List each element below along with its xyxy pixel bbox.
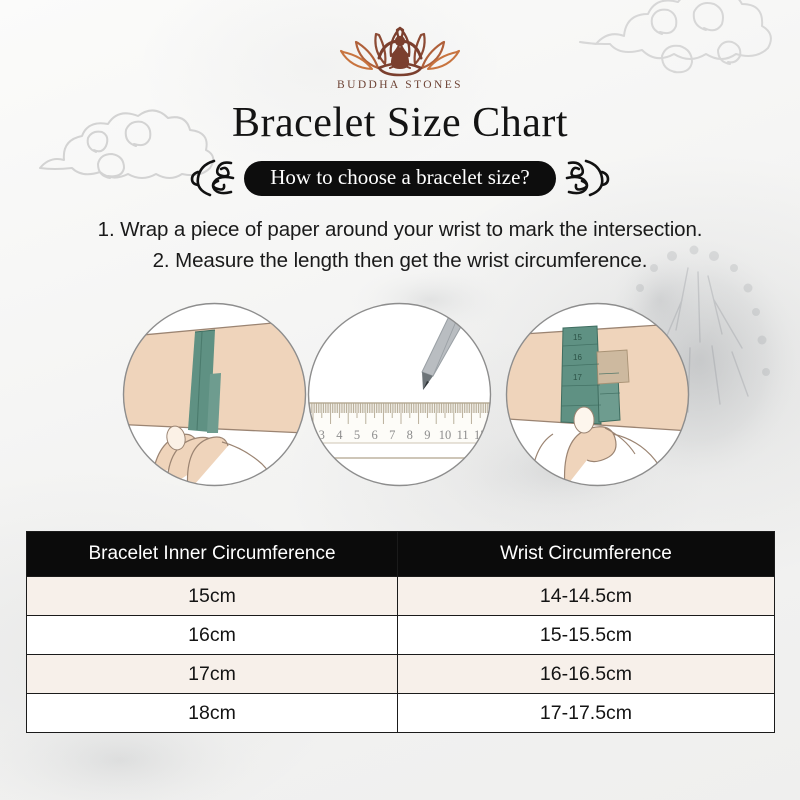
how-to-banner: How to choose a bracelet size?: [0, 158, 800, 198]
ruler-tick-label: 9: [424, 428, 430, 442]
illustration-step-1-wrap-paper: [122, 302, 307, 487]
ruler-tick-label: 4: [336, 428, 343, 442]
ruler-tick-label: 3: [319, 428, 325, 442]
instruction-step-1: 1. Wrap a piece of paper around your wri…: [0, 214, 800, 245]
brand-name: BUDDHA STONES: [337, 79, 463, 91]
cell-bracelet-circumference: 15cm: [27, 577, 398, 616]
cell-bracelet-circumference: 17cm: [27, 655, 398, 694]
illustration-row: 3456789101112: [0, 302, 800, 498]
tape-mark-label: 15: [573, 333, 582, 342]
tape-mark-label: 16: [573, 353, 582, 362]
ornament-flourish-right-icon: [565, 158, 611, 198]
cell-bracelet-circumference: 18cm: [27, 694, 398, 733]
table-body: 15cm 14-14.5cm 16cm 15-15.5cm 17cm 16-16…: [27, 577, 775, 733]
size-chart-page: BUDDHA STONES Bracelet Size Chart How to…: [0, 0, 800, 800]
ruler-tick-label: 7: [389, 428, 395, 442]
lotus-buddha-icon: [332, 18, 468, 78]
cell-bracelet-circumference: 16cm: [27, 616, 398, 655]
cell-wrist-circumference: 17-17.5cm: [398, 694, 775, 733]
ruler-tick-label: 5: [354, 428, 360, 442]
table-row: 18cm 17-17.5cm: [27, 694, 775, 733]
illustration-step-2-measure-ruler: 3456789101112: [307, 302, 492, 487]
ruler-tick-label: 11: [457, 428, 469, 442]
ornament-flourish-left-icon: [189, 158, 235, 198]
how-to-banner-label: How to choose a bracelet size?: [244, 161, 555, 196]
brand-logo: BUDDHA STONES: [0, 18, 800, 91]
cell-wrist-circumference: 14-14.5cm: [398, 577, 775, 616]
ruler-tick-label: 12: [474, 428, 487, 442]
cell-wrist-circumference: 16-16.5cm: [398, 655, 775, 694]
table-row: 17cm 16-16.5cm: [27, 655, 775, 694]
ruler-tick-label: 10: [439, 428, 452, 442]
table-row: 15cm 14-14.5cm: [27, 577, 775, 616]
column-header-wrist: Wrist Circumference: [398, 532, 775, 577]
table-row: 16cm 15-15.5cm: [27, 616, 775, 655]
table-header-row: Bracelet Inner Circumference Wrist Circu…: [27, 532, 775, 577]
page-title: Bracelet Size Chart: [0, 99, 800, 147]
illustration-step-3-tape-measure: 151617: [505, 302, 690, 487]
column-header-bracelet: Bracelet Inner Circumference: [27, 532, 398, 577]
cell-wrist-circumference: 15-15.5cm: [398, 616, 775, 655]
instruction-step-2: 2. Measure the length then get the wrist…: [0, 245, 800, 276]
tape-mark-label: 17: [573, 373, 582, 382]
size-table: Bracelet Inner Circumference Wrist Circu…: [26, 531, 775, 733]
ruler-tick-label: 8: [407, 428, 413, 442]
instruction-steps: 1. Wrap a piece of paper around your wri…: [0, 214, 800, 276]
ruler-tick-label: 6: [371, 428, 377, 442]
